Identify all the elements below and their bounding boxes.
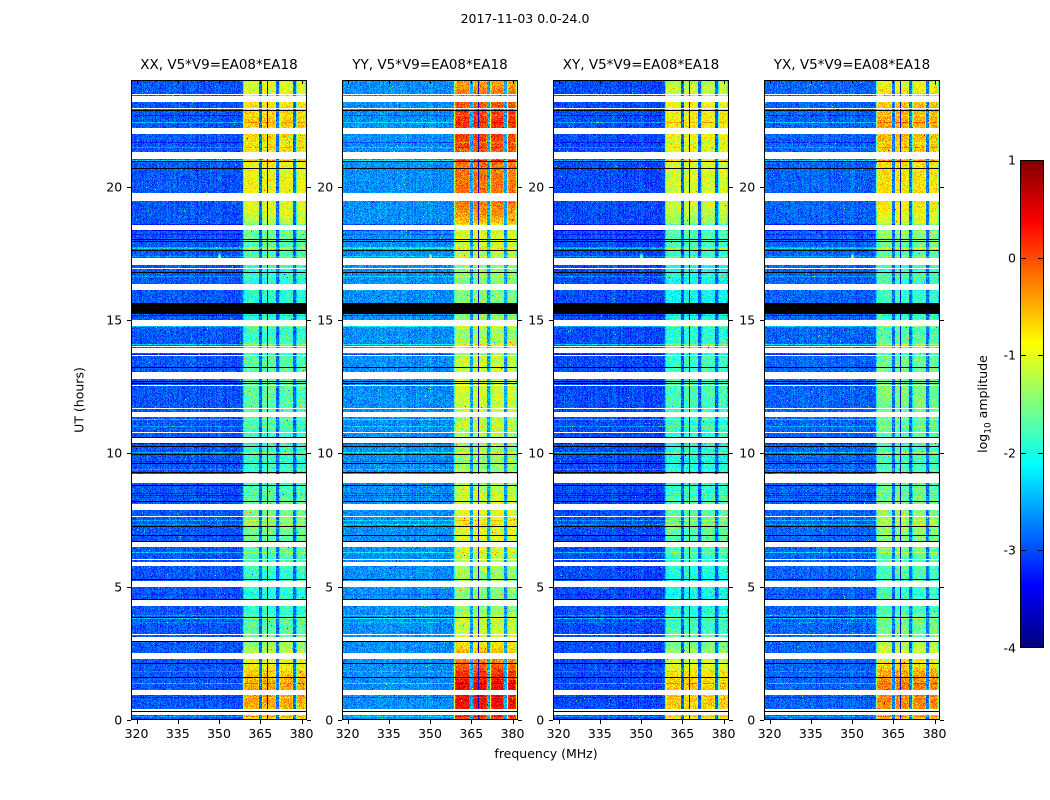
x-tick-mark bbox=[559, 720, 560, 724]
y-tick-mark-right bbox=[729, 587, 733, 588]
x-tick-label: 380 bbox=[712, 726, 736, 741]
y-tick-label: 0 bbox=[536, 713, 544, 728]
colorbar-tick-mark bbox=[1021, 453, 1026, 454]
x-tick-label: 365 bbox=[248, 726, 272, 741]
colorbar-tick-label: -4 bbox=[1004, 641, 1016, 656]
x-tick-mark bbox=[724, 720, 725, 724]
y-tick-mark bbox=[549, 187, 553, 188]
y-tick-mark-right bbox=[729, 187, 733, 188]
x-tick-mark-top bbox=[600, 80, 601, 84]
x-tick-mark-top bbox=[430, 80, 431, 84]
figure-canvas: 2017-11-03 0.0-24.0 UT (hours) frequency… bbox=[0, 0, 1050, 800]
y-tick-label: 0 bbox=[325, 713, 333, 728]
x-tick-label: 335 bbox=[377, 726, 401, 741]
x-tick-label: 380 bbox=[290, 726, 314, 741]
panel-title-yy: YY, V5*V9=EA08*EA18 bbox=[352, 57, 507, 73]
x-tick-label: 365 bbox=[459, 726, 483, 741]
y-tick-mark-right bbox=[729, 320, 733, 321]
x-tick-mark bbox=[137, 720, 138, 724]
waterfall-axes-yy[interactable] bbox=[342, 80, 518, 720]
x-tick-mark bbox=[302, 720, 303, 724]
x-tick-mark bbox=[471, 720, 472, 724]
x-tick-mark-top bbox=[513, 80, 514, 84]
y-tick-label: 10 bbox=[317, 446, 333, 461]
panel-title-xx: XX, V5*V9=EA08*EA18 bbox=[140, 57, 297, 73]
y-tick-label: 10 bbox=[106, 446, 122, 461]
y-tick-label: 15 bbox=[106, 313, 122, 328]
x-tick-mark bbox=[893, 720, 894, 724]
y-tick-label: 15 bbox=[739, 313, 755, 328]
x-tick-mark-top bbox=[641, 80, 642, 84]
y-tick-mark-right bbox=[518, 320, 522, 321]
y-tick-mark-right bbox=[518, 187, 522, 188]
colorbar[interactable]: -4-3-2-101 bbox=[1020, 160, 1044, 648]
x-tick-mark bbox=[935, 720, 936, 724]
y-tick-mark bbox=[549, 720, 553, 721]
x-tick-mark-top bbox=[302, 80, 303, 84]
x-tick-label: 350 bbox=[629, 726, 653, 741]
x-tick-label: 320 bbox=[547, 726, 571, 741]
x-tick-label: 380 bbox=[923, 726, 947, 741]
x-tick-mark-top bbox=[178, 80, 179, 84]
y-tick-mark-right bbox=[518, 453, 522, 454]
y-tick-label: 0 bbox=[114, 713, 122, 728]
x-tick-mark bbox=[513, 720, 514, 724]
x-tick-mark bbox=[430, 720, 431, 724]
y-tick-label: 5 bbox=[747, 579, 755, 594]
colorbar-tick-mark bbox=[1021, 258, 1026, 259]
panel-yx: YX, V5*V9=EA08*EA18320335350365380051015… bbox=[764, 80, 940, 720]
y-tick-label: 20 bbox=[528, 179, 544, 194]
y-tick-mark bbox=[760, 187, 764, 188]
x-tick-mark bbox=[389, 720, 390, 724]
x-tick-mark-top bbox=[260, 80, 261, 84]
waterfall-axes-xy[interactable] bbox=[553, 80, 729, 720]
y-tick-mark bbox=[549, 587, 553, 588]
y-tick-mark bbox=[338, 587, 342, 588]
y-tick-mark-right bbox=[940, 720, 944, 721]
x-tick-mark bbox=[811, 720, 812, 724]
y-tick-label: 15 bbox=[528, 313, 544, 328]
y-tick-label: 5 bbox=[536, 579, 544, 594]
waterfall-axes-xx[interactable] bbox=[131, 80, 307, 720]
y-tick-mark-right bbox=[307, 720, 311, 721]
y-tick-mark bbox=[338, 320, 342, 321]
y-tick-label: 20 bbox=[317, 179, 333, 194]
y-tick-mark bbox=[338, 453, 342, 454]
y-tick-mark-right bbox=[307, 453, 311, 454]
colorbar-tick-label: 0 bbox=[1008, 250, 1016, 265]
y-tick-mark-right bbox=[307, 187, 311, 188]
y-tick-label: 10 bbox=[739, 446, 755, 461]
panel-xy: XY, V5*V9=EA08*EA18320335350365380051015… bbox=[553, 80, 729, 720]
y-tick-label: 0 bbox=[747, 713, 755, 728]
x-tick-mark bbox=[600, 720, 601, 724]
panel-title-yx: YX, V5*V9=EA08*EA18 bbox=[774, 57, 930, 73]
y-axis-label: UT (hours) bbox=[72, 367, 87, 433]
x-tick-mark bbox=[219, 720, 220, 724]
colorbar-tick-label: -1 bbox=[1004, 348, 1016, 363]
y-tick-mark bbox=[760, 587, 764, 588]
y-tick-mark bbox=[549, 320, 553, 321]
y-tick-mark bbox=[760, 320, 764, 321]
colorbar-label: log10 amplitude bbox=[975, 355, 994, 453]
x-tick-mark-top bbox=[852, 80, 853, 84]
x-tick-label: 335 bbox=[588, 726, 612, 741]
x-tick-label: 350 bbox=[840, 726, 864, 741]
colorbar-label-main: log bbox=[975, 434, 990, 453]
x-tick-label: 365 bbox=[881, 726, 905, 741]
y-tick-mark bbox=[127, 587, 131, 588]
y-tick-mark bbox=[127, 453, 131, 454]
x-tick-mark-top bbox=[559, 80, 560, 84]
y-tick-mark-right bbox=[940, 320, 944, 321]
x-tick-label: 320 bbox=[758, 726, 782, 741]
y-tick-mark bbox=[127, 320, 131, 321]
colorbar-tick-mark-right bbox=[1038, 355, 1043, 356]
y-tick-mark bbox=[338, 720, 342, 721]
y-tick-mark-right bbox=[940, 453, 944, 454]
x-tick-mark-top bbox=[348, 80, 349, 84]
colorbar-tick-mark bbox=[1021, 550, 1026, 551]
y-tick-mark-right bbox=[729, 453, 733, 454]
x-tick-label: 335 bbox=[799, 726, 823, 741]
y-tick-mark-right bbox=[518, 720, 522, 721]
waterfall-image-xx bbox=[132, 81, 307, 720]
waterfall-image-yx bbox=[765, 81, 940, 720]
y-tick-label: 10 bbox=[528, 446, 544, 461]
y-tick-label: 5 bbox=[114, 579, 122, 594]
y-tick-mark-right bbox=[940, 187, 944, 188]
waterfall-axes-yx[interactable] bbox=[764, 80, 940, 720]
colorbar-gradient bbox=[1020, 160, 1044, 648]
x-tick-mark bbox=[770, 720, 771, 724]
y-tick-mark bbox=[760, 720, 764, 721]
colorbar-tick-mark-right bbox=[1038, 258, 1043, 259]
x-tick-mark-top bbox=[935, 80, 936, 84]
colorbar-tick-mark-right bbox=[1038, 550, 1043, 551]
colorbar-tick-mark bbox=[1021, 355, 1026, 356]
x-tick-mark-top bbox=[811, 80, 812, 84]
colorbar-tick-label: -2 bbox=[1004, 445, 1016, 460]
y-tick-mark-right bbox=[518, 587, 522, 588]
x-tick-mark-top bbox=[770, 80, 771, 84]
x-tick-label: 335 bbox=[166, 726, 190, 741]
x-tick-label: 380 bbox=[501, 726, 525, 741]
y-tick-mark bbox=[338, 187, 342, 188]
y-tick-label: 20 bbox=[106, 179, 122, 194]
y-tick-label: 5 bbox=[325, 579, 333, 594]
x-axis-label: frequency (MHz) bbox=[494, 746, 597, 761]
x-tick-mark-top bbox=[893, 80, 894, 84]
x-tick-mark-top bbox=[219, 80, 220, 84]
y-tick-mark-right bbox=[729, 720, 733, 721]
x-tick-label: 350 bbox=[207, 726, 231, 741]
colorbar-tick-mark-right bbox=[1038, 453, 1043, 454]
colorbar-label-sub: 10 bbox=[983, 422, 993, 433]
x-tick-mark bbox=[348, 720, 349, 724]
y-tick-mark-right bbox=[940, 587, 944, 588]
x-tick-label: 320 bbox=[336, 726, 360, 741]
x-tick-mark bbox=[852, 720, 853, 724]
colorbar-tick-label: 1 bbox=[1008, 153, 1016, 168]
panel-title-xy: XY, V5*V9=EA08*EA18 bbox=[563, 57, 719, 73]
waterfall-image-xy bbox=[554, 81, 729, 720]
y-tick-mark bbox=[127, 720, 131, 721]
panel-yy: YY, V5*V9=EA08*EA18320335350365380051015… bbox=[342, 80, 518, 720]
x-tick-mark bbox=[260, 720, 261, 724]
y-tick-label: 20 bbox=[739, 179, 755, 194]
y-tick-mark bbox=[760, 453, 764, 454]
x-tick-label: 350 bbox=[418, 726, 442, 741]
y-tick-label: 15 bbox=[317, 313, 333, 328]
colorbar-tick-label: -3 bbox=[1004, 543, 1016, 558]
x-tick-label: 320 bbox=[125, 726, 149, 741]
x-tick-label: 365 bbox=[670, 726, 694, 741]
x-tick-mark bbox=[641, 720, 642, 724]
x-tick-mark-top bbox=[471, 80, 472, 84]
figure-suptitle: 2017-11-03 0.0-24.0 bbox=[0, 11, 1050, 26]
panel-xx: XX, V5*V9=EA08*EA18320335350365380051015… bbox=[131, 80, 307, 720]
y-tick-mark bbox=[549, 453, 553, 454]
x-tick-mark-top bbox=[137, 80, 138, 84]
y-tick-mark-right bbox=[307, 320, 311, 321]
x-tick-mark-top bbox=[724, 80, 725, 84]
x-tick-mark bbox=[682, 720, 683, 724]
x-tick-mark-top bbox=[389, 80, 390, 84]
waterfall-image-yy bbox=[343, 81, 518, 720]
colorbar-label-tail: amplitude bbox=[975, 355, 990, 422]
x-tick-mark bbox=[178, 720, 179, 724]
y-tick-mark bbox=[127, 187, 131, 188]
x-tick-mark-top bbox=[682, 80, 683, 84]
y-tick-mark-right bbox=[307, 587, 311, 588]
